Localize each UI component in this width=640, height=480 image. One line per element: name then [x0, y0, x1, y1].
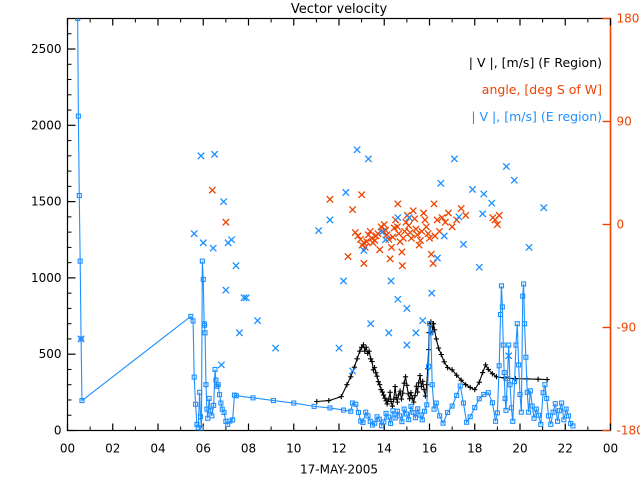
data-marker-plus [434, 336, 439, 341]
data-marker-plus [468, 385, 473, 390]
data-marker-plus [436, 346, 441, 351]
data-marker-x [228, 237, 234, 243]
chart-root: Vector velocity0002040608101214161820220… [0, 0, 640, 480]
data-marker-x [422, 217, 428, 223]
x-tick-label: 12 [331, 442, 346, 456]
data-marker-x [428, 251, 434, 257]
data-marker-x [211, 151, 217, 157]
data-marker-x [345, 253, 351, 259]
x-tick-label: 18 [467, 442, 482, 456]
x-tick-label: 00 [603, 442, 618, 456]
data-marker-plus [393, 384, 398, 389]
data-marker-x [414, 232, 420, 238]
data-marker-plus [348, 374, 353, 379]
legend-entry-1: angle, [deg S of W] [482, 82, 602, 97]
y2-tick-label: 90 [617, 115, 632, 129]
data-marker-x [410, 208, 416, 214]
data-marker-plus [445, 365, 450, 370]
data-marker-x [327, 217, 333, 223]
vector-velocity-plot: Vector velocity0002040608101214161820220… [0, 0, 640, 480]
data-marker-x [358, 192, 364, 198]
data-marker-x [395, 201, 401, 207]
data-marker-plus [536, 377, 541, 382]
data-marker-x [463, 212, 469, 218]
data-marker-x [526, 244, 532, 250]
data-marker-plus [373, 370, 378, 375]
data-marker-plus [417, 373, 422, 378]
scatter-e-region [78, 147, 547, 375]
y-tick-label: 1500 [31, 195, 62, 209]
data-marker-x [441, 233, 447, 239]
data-marker-x [223, 219, 229, 225]
data-marker-plus [442, 359, 447, 364]
data-marker-x [489, 200, 495, 206]
x-tick-label: 22 [558, 442, 573, 456]
y-tick-label: 2500 [31, 42, 62, 56]
data-marker-x [272, 345, 278, 351]
data-marker-x [355, 233, 361, 239]
data-marker-plus [355, 356, 360, 361]
data-marker-x [223, 287, 229, 293]
data-marker-x [496, 212, 502, 218]
data-marker-plus [339, 394, 344, 399]
data-marker-plus [385, 401, 390, 406]
data-marker-x [407, 229, 413, 235]
chart-title: Vector velocity [291, 2, 388, 17]
data-marker-x [395, 214, 401, 220]
data-marker-plus [388, 390, 393, 395]
data-marker-x [209, 187, 215, 193]
data-marker-plus [399, 396, 404, 401]
data-marker-x [343, 189, 349, 195]
x-tick-label: 14 [377, 442, 392, 456]
x-tick-label: 04 [150, 442, 165, 456]
data-marker-plus [545, 377, 550, 382]
data-marker-x [361, 260, 367, 266]
x-tick-label: 16 [422, 442, 437, 456]
data-marker-plus [326, 398, 331, 403]
data-marker-x [413, 226, 419, 232]
data-marker-x [479, 211, 485, 217]
y2-tick-label: 180 [617, 12, 640, 26]
data-marker-x [399, 249, 405, 255]
y-tick-label: 500 [39, 347, 62, 361]
data-marker-plus [424, 382, 429, 387]
data-marker-x [411, 216, 417, 222]
data-marker-x [503, 163, 509, 169]
data-marker-x [198, 153, 204, 159]
x-tick-label: 20 [512, 442, 527, 456]
data-marker-x [336, 345, 342, 351]
x-tick-label: 08 [241, 442, 256, 456]
data-marker-x [469, 186, 475, 192]
data-marker-x [388, 244, 394, 250]
data-marker-x [541, 205, 547, 211]
data-marker-plus [314, 399, 319, 404]
data-marker-plus [480, 370, 485, 375]
data-marker-x [404, 342, 410, 348]
data-marker-x [377, 246, 383, 252]
data-marker-x [404, 305, 410, 311]
data-marker-plus [407, 396, 412, 401]
x-tick-label: 10 [286, 442, 301, 456]
data-marker-x [476, 264, 482, 270]
data-marker-x [236, 330, 242, 336]
series-e-region [76, 17, 575, 431]
data-marker-x [349, 206, 355, 212]
data-marker-x [388, 278, 394, 284]
data-marker-plus [403, 374, 408, 379]
data-marker-x [416, 242, 422, 248]
data-marker-x [372, 237, 378, 243]
data-marker-x [481, 191, 487, 197]
data-marker-x [354, 147, 360, 153]
data-marker-x [438, 180, 444, 186]
y-tick-label: 1000 [31, 271, 62, 285]
data-marker-x [458, 205, 464, 211]
data-marker-x [327, 196, 333, 202]
data-marker-x [423, 224, 429, 230]
data-marker-plus [513, 376, 518, 381]
data-marker-x [420, 210, 426, 216]
data-marker-x [405, 222, 411, 228]
data-marker-x [400, 235, 406, 241]
data-marker-x [434, 255, 440, 261]
data-marker-x [460, 241, 466, 247]
data-marker-x [425, 230, 431, 236]
y-tick-label: 2000 [31, 118, 62, 132]
data-marker-plus [395, 400, 400, 405]
data-marker-x [445, 210, 451, 216]
x-tick-label: 02 [105, 442, 120, 456]
data-marker-x [408, 235, 414, 241]
data-marker-x [381, 221, 387, 227]
data-marker-x [367, 320, 373, 326]
legend-entry-2: | V |, [m/s] (E region) [471, 109, 602, 124]
data-marker-plus [408, 390, 413, 395]
x-tick-label: 00 [60, 442, 75, 456]
data-marker-plus [472, 387, 477, 392]
data-marker-x [233, 263, 239, 269]
data-marker-x [340, 278, 346, 284]
data-marker-x [365, 156, 371, 162]
x-axis-label: 17-MAY-2005 [300, 463, 378, 477]
data-marker-plus [439, 352, 444, 357]
data-marker-x [417, 237, 423, 243]
data-marker-x [401, 228, 407, 234]
data-marker-x [200, 240, 206, 246]
scatter-angle [209, 187, 502, 269]
data-marker-plus [390, 403, 395, 408]
y2-tick-label: 0 [617, 218, 625, 232]
data-marker-x [430, 260, 436, 266]
data-marker-x [420, 317, 426, 323]
data-marker-x [413, 330, 419, 336]
data-marker-x [315, 227, 321, 233]
data-marker-plus [477, 380, 482, 385]
data-marker-x [511, 177, 517, 183]
data-marker-x [449, 224, 455, 230]
data-marker-x [431, 201, 437, 207]
data-marker-x [210, 245, 216, 251]
data-marker-x [395, 296, 401, 302]
data-marker-x [399, 263, 405, 269]
data-marker-plus [483, 362, 488, 367]
data-marker-x [386, 330, 392, 336]
data-marker-x [220, 198, 226, 204]
data-marker-x [451, 156, 457, 162]
y2-tick-label: -180 [617, 424, 640, 438]
plot-frame [68, 19, 611, 431]
y2-tick-label: -90 [617, 321, 637, 335]
data-marker-x [218, 362, 224, 368]
y-tick-label: 0 [54, 424, 62, 438]
data-marker-x [387, 256, 393, 262]
x-tick-label: 06 [196, 442, 211, 456]
data-marker-x [254, 317, 260, 323]
data-marker-plus [344, 382, 349, 387]
data-marker-x [191, 230, 197, 236]
legend-entry-0: | V |, [m/s] (F Region) [469, 55, 602, 70]
data-marker-x [456, 214, 462, 220]
data-marker-plus [412, 393, 417, 398]
data-marker-plus [374, 374, 379, 379]
data-marker-x [429, 290, 435, 296]
